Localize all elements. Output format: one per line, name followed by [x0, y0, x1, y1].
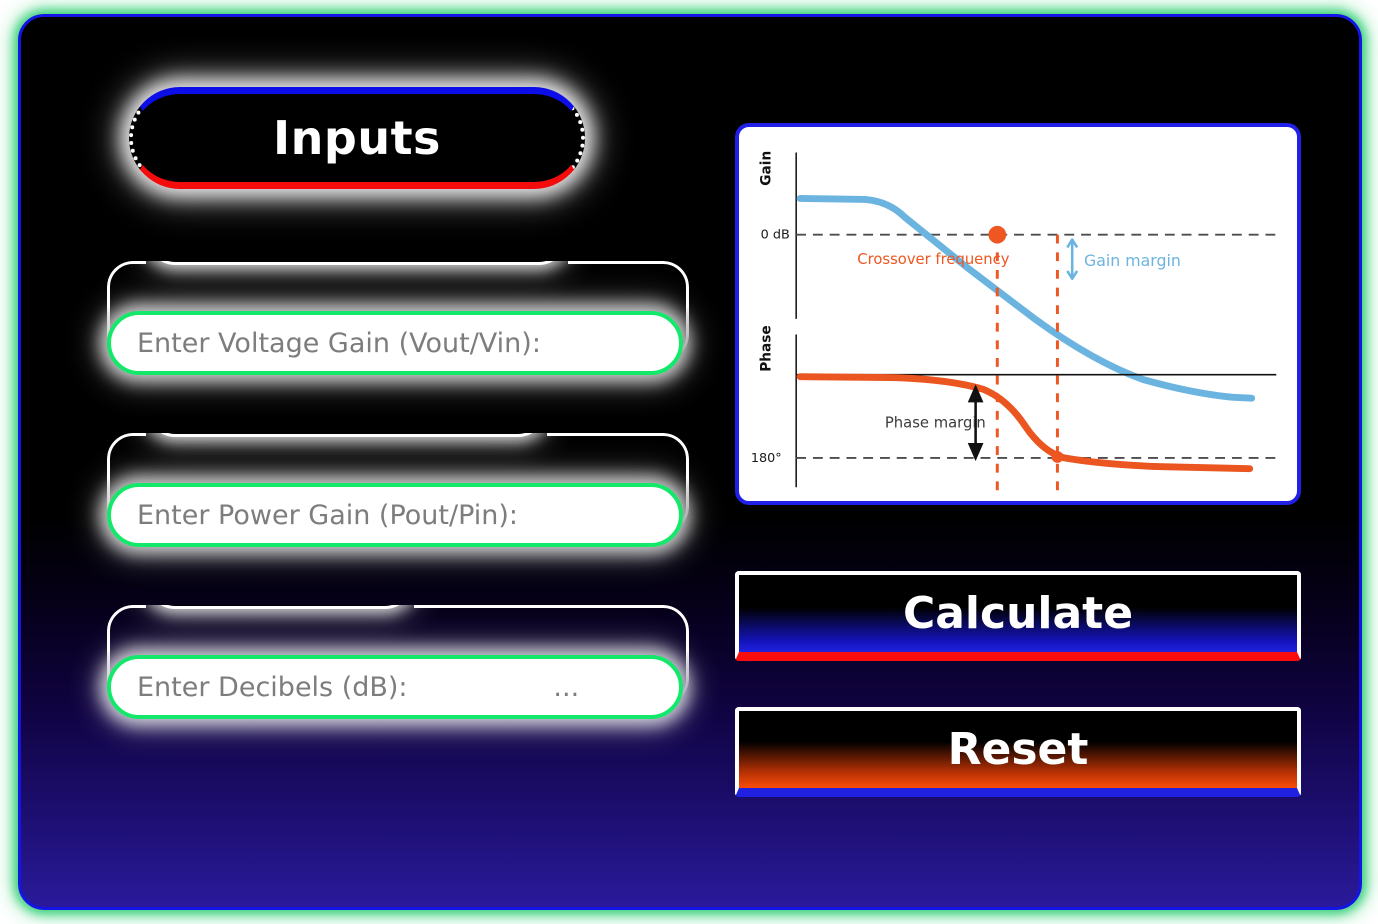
bode-plot-card: Gain 0 dB Crossover frequency Gain margi…: [735, 123, 1301, 505]
phase-margin-annotation: Phase margin: [885, 415, 986, 432]
crossover-frequency-annotation: Crossover frequency: [857, 251, 1009, 268]
bode-plot-figure: Gain 0 dB Crossover frequency Gain margi…: [739, 127, 1297, 501]
voltage-gain-input[interactable]: [107, 311, 683, 375]
label-voltage-gain: Voltage Gain (Vout/Vin):: [146, 206, 568, 265]
gain-axis-label: Gain: [759, 151, 775, 186]
gain-margin-annotation: Gain margin: [1084, 251, 1181, 270]
field-group-power-gain: Power Gain (Pout/Pin):: [107, 405, 689, 533]
page-title: Inputs: [273, 115, 441, 161]
phase-axis-label: Phase: [759, 325, 775, 371]
zero-db-tick-label: 0 dB: [761, 228, 790, 243]
right-panel: Gain 0 dB Crossover frequency Gain margi…: [735, 123, 1307, 797]
reset-button[interactable]: Reset: [735, 707, 1301, 797]
field-group-voltage-gain: Voltage Gain (Vout/Vin):: [107, 233, 689, 361]
inputs-panel: Inputs Voltage Gain (Vout/Vin): Power Ga…: [107, 87, 707, 705]
power-gain-input[interactable]: [107, 483, 683, 547]
decibels-input[interactable]: [107, 655, 683, 719]
label-decibels: Decibels (dB):: [146, 550, 414, 609]
field-group-decibels: Decibels (dB):: [107, 577, 689, 705]
app-container: Inputs Voltage Gain (Vout/Vin): Power Ga…: [18, 14, 1362, 910]
calculate-button[interactable]: Calculate: [735, 571, 1301, 661]
gain-curve: [800, 198, 1252, 398]
inputs-header: Inputs: [129, 87, 585, 189]
label-power-gain: Power Gain (Pout/Pin):: [146, 378, 547, 437]
gain-margin-arrow: [1067, 240, 1077, 279]
one-eighty-tick-label: 180°: [751, 451, 782, 466]
phase-crossing-marker: [1052, 451, 1064, 463]
